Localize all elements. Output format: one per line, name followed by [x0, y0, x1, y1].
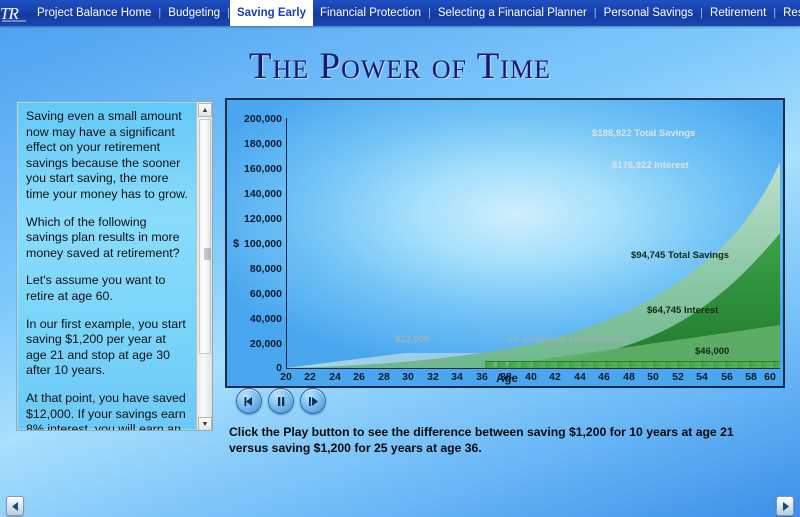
- nav-item-resources[interactable]: Resources: [776, 0, 800, 26]
- lesson-text-panel: Saving even a small amount now may have …: [16, 101, 213, 431]
- nav-item-personal-savings[interactable]: Personal Savings: [597, 0, 701, 26]
- caption-play-word: Play: [283, 425, 308, 439]
- scenario2-contribution-bars: [485, 361, 780, 368]
- playback-controls: [236, 388, 326, 414]
- y-tick-label: 160,000: [244, 163, 282, 175]
- scroll-down-icon[interactable]: ▼: [198, 417, 212, 431]
- nav-item-budgeting[interactable]: Budgeting: [161, 0, 227, 26]
- caption-line1-post: button to see the difference between sav…: [308, 425, 733, 439]
- nav-item-retirement[interactable]: Retirement: [703, 0, 773, 26]
- nav-item-saving-early[interactable]: Saving Early: [230, 0, 313, 26]
- annotation-contributions: $46,000: [695, 346, 729, 357]
- annotation-interest-top: $176,922 Interest: [612, 160, 689, 171]
- step-back-icon: [243, 396, 255, 407]
- caption-line1-pre: Click the: [229, 425, 283, 439]
- step-forward-button[interactable]: [300, 388, 326, 414]
- text-panel-scrollbar[interactable]: ▲ ▼: [196, 102, 212, 431]
- lesson-paragraph: Let's assume you want to retire at age 6…: [26, 273, 188, 304]
- previous-page-button[interactable]: [6, 496, 24, 516]
- nav-item-financial-protection[interactable]: Financial Protection: [313, 0, 428, 26]
- x-axis-line: [286, 368, 780, 369]
- y-tick-label: 180,000: [244, 138, 282, 150]
- annotation-no-additional-contributions: no additional contributions: [507, 334, 629, 345]
- y-tick-label: 40,000: [250, 313, 282, 325]
- svg-text:TR: TR: [0, 4, 19, 23]
- lesson-paragraph: At that point, you have saved $12,000. I…: [26, 391, 188, 431]
- page-title: The Power of Time: [0, 45, 800, 88]
- caption-line2: versus saving $1,200 for 25 years at age…: [229, 441, 482, 455]
- next-page-button[interactable]: [776, 496, 794, 516]
- savings-growth-chart: 200,000 180,000 160,000 140,000 120,000 …: [225, 98, 785, 388]
- x-axis-title: Age: [227, 373, 785, 385]
- lesson-paragraph: Saving even a small amount now may have …: [26, 109, 188, 203]
- annotation-saved-12000: $12,000: [395, 334, 429, 345]
- annotation-interest-mid: $64,745 Interest: [647, 305, 718, 316]
- chart-plot-area: [227, 100, 783, 386]
- y-tick-label: 140,000: [244, 188, 282, 200]
- nav-item-selecting-a-financial-planner[interactable]: Selecting a Financial Planner: [431, 0, 594, 26]
- tr-monogram-icon: TR: [0, 3, 30, 23]
- y-tick-label: 80,000: [250, 263, 282, 275]
- scrollbar-thumb[interactable]: [199, 119, 211, 354]
- y-tick-label: 20,000: [250, 338, 282, 350]
- scrollbar-grip-icon: [204, 248, 211, 260]
- step-back-button[interactable]: [236, 388, 262, 414]
- y-tick-label: 200,000: [244, 113, 282, 125]
- y-axis-line: [286, 118, 287, 368]
- site-logo-icon[interactable]: TR: [0, 0, 30, 26]
- step-forward-icon: [307, 396, 319, 407]
- chart-caption: Click the Play button to see the differe…: [229, 424, 774, 456]
- annotation-total-savings-top: $188,922 Total Savings: [592, 128, 695, 139]
- y-tick-label: 60,000: [250, 288, 282, 300]
- annotation-total-savings-mid: $94,745 Total Savings: [631, 250, 729, 261]
- lesson-paragraph: Which of the following savings plan resu…: [26, 215, 188, 262]
- nav-item-project-balance-home[interactable]: Project Balance Home: [30, 0, 158, 26]
- chevron-left-icon: [12, 502, 19, 511]
- y-tick-label: 100,000: [244, 238, 282, 250]
- y-axis-currency-label: $: [233, 238, 239, 250]
- lesson-text-body: Saving even a small amount now may have …: [17, 102, 195, 431]
- scroll-up-icon[interactable]: ▲: [198, 103, 212, 117]
- y-tick-label: 120,000: [244, 213, 282, 225]
- lesson-paragraph: In our first example, you start saving $…: [26, 317, 188, 379]
- main-navigation-bar: TR Project Balance Home | Budgeting | Sa…: [0, 0, 800, 26]
- pause-button[interactable]: [268, 388, 294, 414]
- pause-icon: [275, 396, 287, 407]
- y-axis-ticks: 200,000 180,000 160,000 140,000 120,000 …: [227, 100, 282, 388]
- chevron-right-icon: [782, 502, 789, 511]
